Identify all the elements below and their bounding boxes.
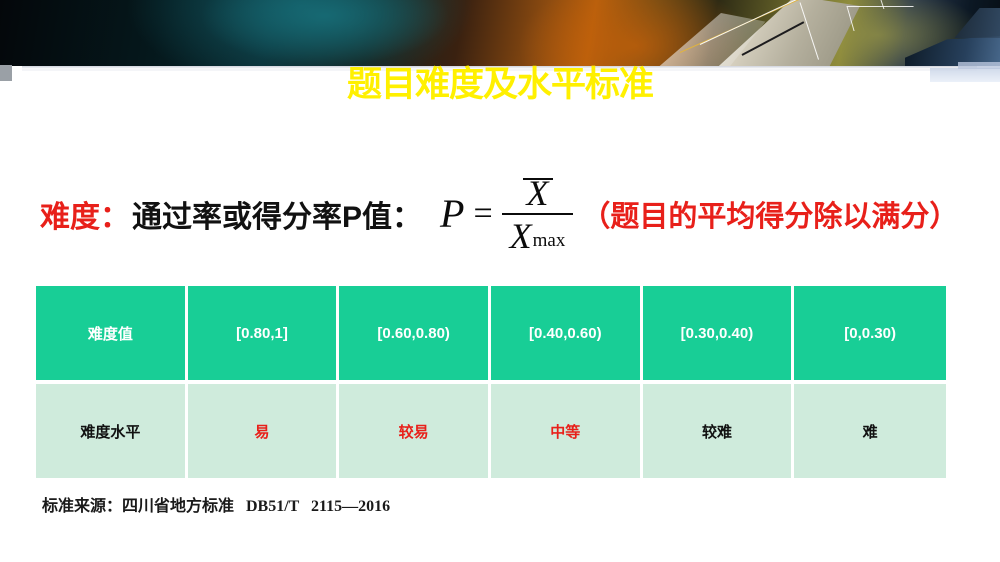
difficulty-standard-table: 难度值 [0.80,1] [0.60,0.80) [0.40,0.60) [0.… — [36, 286, 946, 478]
difficulty-label: 难度： — [40, 192, 130, 236]
slide-canvas: 题目难度及水平标准 难度： 通过率或得分率P值： P = X X max （题目… — [0, 0, 1000, 562]
formula-denominator-symbol: X — [510, 218, 532, 254]
difficulty-description: 通过率或得分率P值： — [132, 192, 422, 236]
table-body-cell-2: 较易 — [339, 384, 491, 478]
formula-numerator: X — [505, 175, 571, 213]
table-row: 难度水平 易 较易 中等 较难 难 — [36, 384, 946, 478]
formula-equals: = — [473, 197, 492, 231]
source-note: 标准来源：四川省地方标准 DB51/T 2115—2016 — [42, 492, 390, 516]
table-row-header: 难度值 [0.80,1] [0.60,0.80) [0.40,0.60) [0.… — [36, 286, 946, 384]
table-body-cell-3: 中等 — [491, 384, 643, 478]
table-body-cell-4: 较难 — [643, 384, 795, 478]
table-header-cell-4: [0.30,0.40) — [643, 286, 795, 384]
banner-chevron-outline-2 — [877, 0, 937, 9]
table-header-cell-0: 难度值 — [36, 286, 188, 384]
banner-chevron-outline — [846, 6, 920, 31]
difficulty-definition-line: 难度： 通过率或得分率P值： P = X X max （题目的平均得分除以满分） — [40, 166, 980, 262]
formula-denominator-subscript: max — [533, 231, 566, 254]
formula-denominator: X max — [502, 215, 574, 254]
formula-overline — [523, 178, 553, 180]
banner-teal-glow — [200, 0, 450, 66]
table-body-cell-5: 难 — [794, 384, 946, 478]
table-body-cell-0: 难度水平 — [36, 384, 188, 478]
formula-note: （题目的平均得分除以满分） — [581, 193, 958, 235]
table-header-cell-1: [0.80,1] — [188, 286, 340, 384]
table-header-cell-5: [0,0.30) — [794, 286, 946, 384]
formula-lhs: P — [440, 194, 464, 234]
table-body-cell-1: 易 — [188, 384, 340, 478]
formula-fraction: X X max — [502, 175, 574, 254]
table-header-cell-2: [0.60,0.80) — [339, 286, 491, 384]
page-title: 题目难度及水平标准 — [0, 63, 1000, 107]
table-header-cell-3: [0.40,0.60) — [491, 286, 643, 384]
difficulty-formula: P = X X max — [440, 175, 573, 254]
decorative-banner-image — [0, 0, 1000, 66]
